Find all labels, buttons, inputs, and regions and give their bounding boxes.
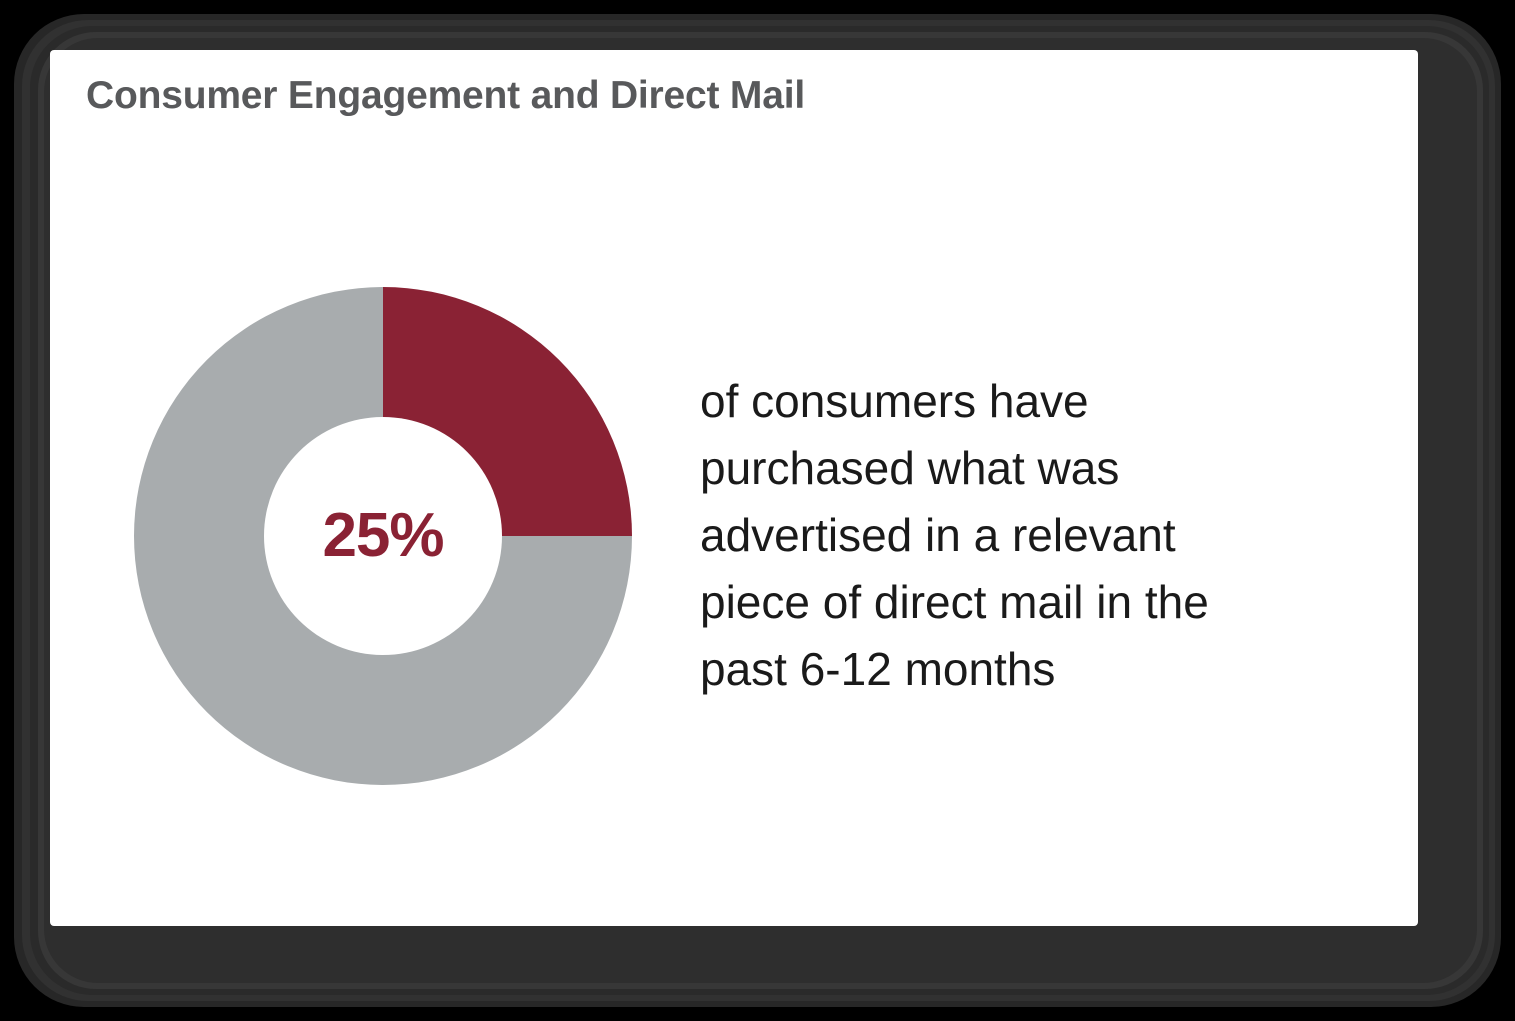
screenshot-root: Consumer Engagement and Direct Mail 25% … bbox=[0, 0, 1515, 1021]
body-copy-line-5: past 6-12 months bbox=[700, 636, 1340, 703]
body-copy: of consumers have purchased what was adv… bbox=[700, 368, 1340, 703]
body-copy-line-2: purchased what was bbox=[700, 435, 1340, 502]
infographic-card: Consumer Engagement and Direct Mail 25% … bbox=[50, 50, 1418, 926]
body-copy-line-1: of consumers have bbox=[700, 368, 1340, 435]
body-copy-line-4: piece of direct mail in the bbox=[700, 569, 1340, 636]
body-copy-line-3: advertised in a relevant bbox=[700, 502, 1340, 569]
donut-hole bbox=[264, 417, 502, 655]
donut-chart: 25% bbox=[134, 287, 632, 785]
donut-chart-svg bbox=[134, 287, 632, 785]
page-title: Consumer Engagement and Direct Mail bbox=[86, 74, 805, 118]
